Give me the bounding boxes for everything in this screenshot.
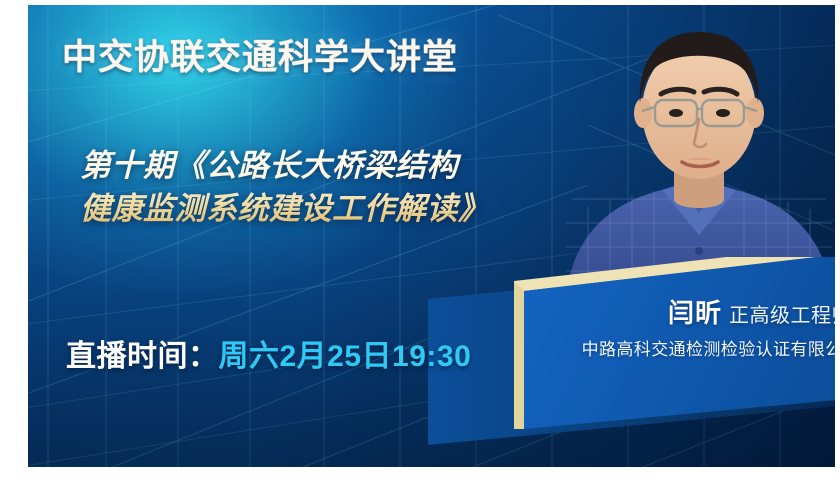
speaker-info-panel: 闫昕正高级工程师 中路高科交通检测检验认证有限公司 (508, 257, 835, 447)
broadcast-time: 直播时间：周六2月25日19:30 (66, 331, 471, 375)
page-title: 中交协联交通科学大讲堂 (62, 29, 458, 80)
program-subtitle: 第十期《公路长大桥梁结构 健康监测系统建设工作解读》 (80, 145, 620, 231)
broadcast-time-label: 直播时间： (66, 340, 219, 373)
broadcast-time-value: 周六2月25日19:30 (219, 340, 472, 373)
live-stream-poster: 中交协联交通科学大讲堂 第十期《公路长大桥梁结构 健康监测系统建设工作解读》 直… (0, 0, 840, 480)
speaker-title: 正高级工程师 (729, 305, 835, 327)
speaker-organization: 中路高科交通检测检验认证有限公司 (508, 335, 835, 360)
subtitle-line-2: 健康监测系统建设工作解读》 (80, 188, 620, 231)
subtitle-line-1: 第十期《公路长大桥梁结构 (80, 145, 620, 188)
poster-artboard: 中交协联交通科学大讲堂 第十期《公路长大桥梁结构 健康监测系统建设工作解读》 直… (28, 5, 835, 467)
speaker-name-row: 闫昕正高级工程师 (508, 293, 835, 330)
speaker-name: 闫昕 (668, 298, 722, 328)
